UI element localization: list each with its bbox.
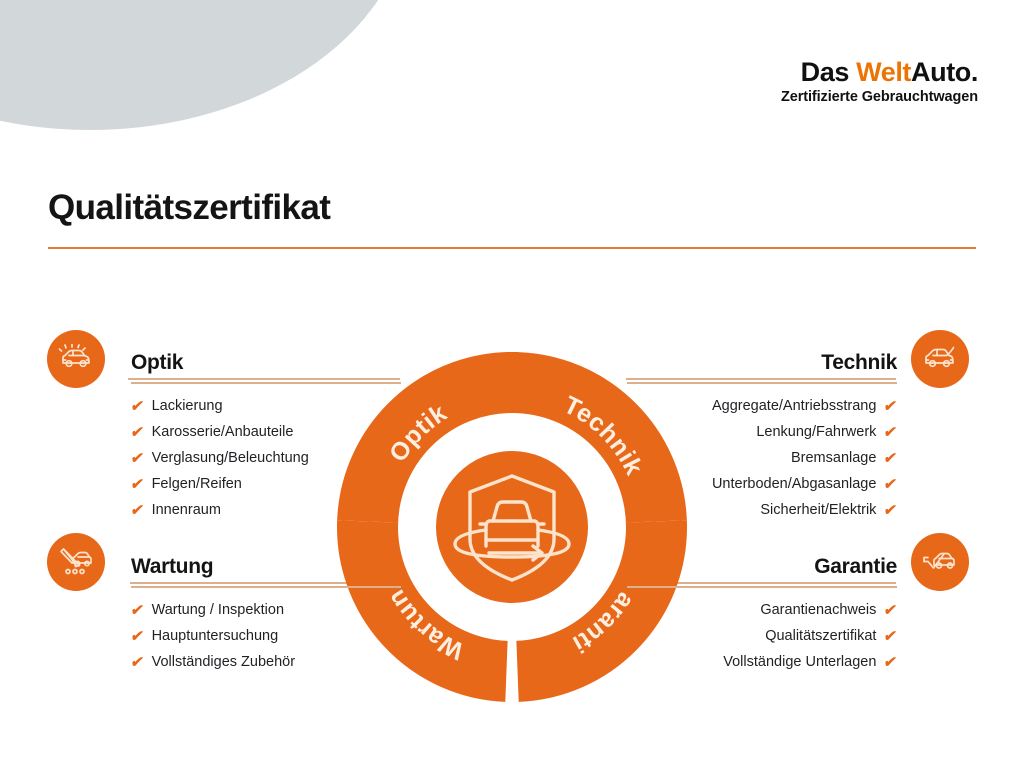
list-item-label: Verglasung/Beleuchtung: [152, 451, 309, 466]
brand-tagline: Zertifizierte Gebrauchtwagen: [781, 89, 978, 105]
list-item-label: Garantienachweis: [760, 603, 876, 618]
list-item-label: Unterboden/Abgasanlage: [712, 477, 876, 492]
section-technik-header: Technik: [627, 339, 897, 373]
list-item-label: Vollständiges Zubehör: [152, 655, 296, 670]
section-optik-header: Optik: [131, 339, 401, 373]
section-wartung: Wartung ✔Wartung / Inspektion ✔Hauptunte…: [131, 543, 401, 676]
list-item: ✔Lackierung: [131, 394, 401, 420]
badge-garantie: [911, 533, 969, 591]
section-garantie-title: Garantie: [814, 556, 897, 577]
list-item: ✔Felgen/Reifen: [131, 472, 401, 498]
section-wartung-list: ✔Wartung / Inspektion ✔Hauptuntersuchung…: [131, 598, 401, 676]
check-icon: ✔: [883, 425, 898, 440]
brand-word-das: Das: [801, 57, 856, 87]
car-check-icon: [922, 548, 958, 576]
brand-wordmark: Das WeltAuto.: [781, 58, 978, 86]
list-item: Aggregate/Antriebsstrang✔: [627, 394, 897, 420]
check-icon: ✔: [883, 477, 898, 492]
list-item-label: Karosserie/Anbauteile: [152, 425, 294, 440]
section-technik: Technik Aggregate/Antriebsstrang✔ Lenkun…: [627, 339, 897, 524]
brand-word-welt: Welt: [856, 57, 911, 87]
list-item: ✔Vollständiges Zubehör: [131, 650, 401, 676]
check-icon: ✔: [130, 399, 145, 414]
section-garantie-header: Garantie: [627, 543, 897, 577]
list-item: Garantienachweis✔: [627, 598, 897, 624]
check-icon: ✔: [883, 655, 898, 670]
check-icon: ✔: [130, 503, 145, 518]
list-item-label: Lackierung: [152, 399, 223, 414]
section-technik-list: Aggregate/Antriebsstrang✔ Lenkung/Fahrwe…: [627, 394, 897, 524]
decorative-circle: [0, 0, 410, 130]
list-item: ✔Hauptuntersuchung: [131, 624, 401, 650]
check-icon: ✔: [130, 655, 145, 670]
section-garantie-divider: [627, 586, 897, 588]
section-wartung-divider: [131, 586, 401, 588]
badge-optik: [47, 330, 105, 388]
check-icon: ✔: [130, 629, 145, 644]
badge-technik: [911, 330, 969, 388]
list-item: Sicherheit/Elektrik✔: [627, 498, 897, 524]
section-optik-title: Optik: [131, 352, 183, 373]
section-wartung-header: Wartung: [131, 543, 401, 577]
check-icon: ✔: [130, 425, 145, 440]
list-item-label: Sicherheit/Elektrik: [760, 503, 876, 518]
list-item-label: Vollständige Unterlagen: [723, 655, 876, 670]
section-technik-title: Technik: [821, 352, 897, 373]
section-wartung-title: Wartung: [131, 556, 213, 577]
badge-wartung: [47, 533, 105, 591]
list-item: Lenkung/Fahrwerk✔: [627, 420, 897, 446]
list-item-label: Aggregate/Antriebsstrang: [712, 399, 876, 414]
list-item: Unterboden/Abgasanlage✔: [627, 472, 897, 498]
list-item-label: Lenkung/Fahrwerk: [756, 425, 876, 440]
list-item-label: Innenraum: [152, 503, 221, 518]
car-open-hood-icon: [922, 345, 958, 373]
list-item: ✔Verglasung/Beleuchtung: [131, 446, 401, 472]
car-pencil-service-icon: [59, 546, 93, 578]
list-item-label: Wartung / Inspektion: [152, 603, 284, 618]
section-optik-divider: [131, 382, 401, 384]
page-title: Qualitätszertifikat: [48, 188, 330, 228]
list-item-label: Felgen/Reifen: [152, 477, 242, 492]
car-shine-icon: [58, 344, 94, 374]
brand-word-auto: Auto.: [911, 57, 978, 87]
check-icon: ✔: [883, 451, 898, 466]
list-item-label: Hauptuntersuchung: [152, 629, 279, 644]
check-icon: ✔: [883, 503, 898, 518]
list-item: ✔Innenraum: [131, 498, 401, 524]
check-icon: ✔: [883, 629, 898, 644]
title-divider: [48, 247, 976, 249]
brand-logo: Das WeltAuto. Zertifizierte Gebrauchtwag…: [781, 58, 978, 105]
section-garantie: Garantie Garantienachweis✔ Qualitätszert…: [627, 543, 897, 676]
section-garantie-list: Garantienachweis✔ Qualitätszertifikat✔ V…: [627, 598, 897, 676]
list-item-label: Qualitätszertifikat: [765, 629, 876, 644]
section-optik-list: ✔Lackierung ✔Karosserie/Anbauteile ✔Verg…: [131, 394, 401, 524]
check-icon: ✔: [130, 451, 145, 466]
check-icon: ✔: [883, 603, 898, 618]
section-optik: Optik ✔Lackierung ✔Karosserie/Anbauteile…: [131, 339, 401, 524]
list-item: Vollständige Unterlagen✔: [627, 650, 897, 676]
check-icon: ✔: [130, 477, 145, 492]
check-icon: ✔: [130, 603, 145, 618]
list-item: Bremsanlage✔: [627, 446, 897, 472]
list-item: Qualitätszertifikat✔: [627, 624, 897, 650]
check-icon: ✔: [883, 399, 898, 414]
section-technik-divider: [627, 382, 897, 384]
list-item-label: Bremsanlage: [791, 451, 876, 466]
list-item: ✔Wartung / Inspektion: [131, 598, 401, 624]
list-item: ✔Karosserie/Anbauteile: [131, 420, 401, 446]
